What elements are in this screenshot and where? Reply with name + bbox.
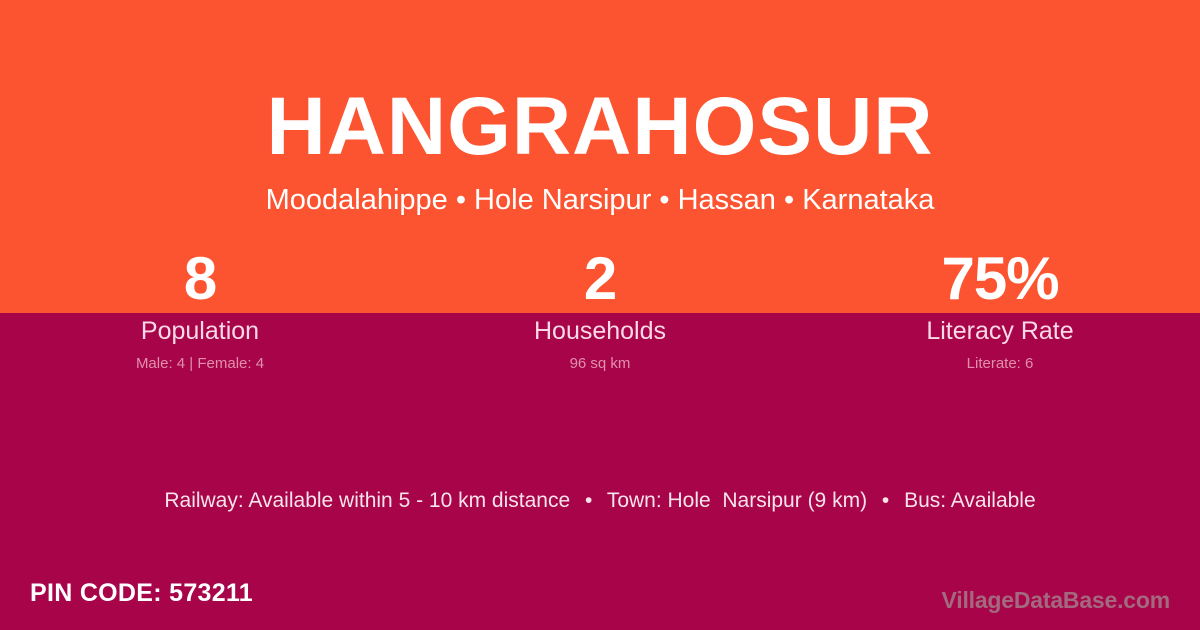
stat-value-population: 8 (0, 246, 400, 312)
amenities-line: Railway: Available within 5 - 10 km dist… (0, 486, 1200, 515)
stat-label-households: Households (400, 316, 800, 347)
stats-row: 8 Population Male: 4 | Female: 4 2 House… (0, 246, 1200, 374)
stat-population: 8 Population Male: 4 | Female: 4 (0, 246, 400, 374)
village-info-card: HANGRAHOSUR Moodalahippe • Hole Narsipur… (0, 0, 1200, 630)
stat-sub-households: 96 sq km (400, 354, 800, 374)
stat-literacy-rate: 75% Literacy Rate Literate: 6 (800, 246, 1200, 374)
amenity-town: Town: Hole Narsipur (9 km) (607, 489, 867, 512)
amenity-separator-2: • (873, 486, 898, 515)
pin-code: PIN CODE: 573211 (30, 577, 253, 609)
stat-value-households: 2 (400, 246, 800, 312)
stat-value-literacy-rate: 75% (800, 246, 1200, 312)
amenity-bus: Bus: Available (904, 489, 1036, 512)
page-title: HANGRAHOSUR (0, 81, 1200, 173)
stat-households: 2 Households 96 sq km (400, 246, 800, 374)
breadcrumb: Moodalahippe • Hole Narsipur • Hassan • … (0, 181, 1200, 219)
amenity-separator-1: • (576, 486, 601, 515)
stat-label-literacy-rate: Literacy Rate (800, 316, 1200, 347)
amenity-railway: Railway: Available within 5 - 10 km dist… (164, 489, 570, 512)
stat-sub-literacy-rate: Literate: 6 (800, 354, 1200, 374)
stat-sub-population: Male: 4 | Female: 4 (0, 354, 400, 374)
brand-watermark: VillageDataBase.com (942, 585, 1170, 615)
stat-label-population: Population (0, 316, 400, 347)
